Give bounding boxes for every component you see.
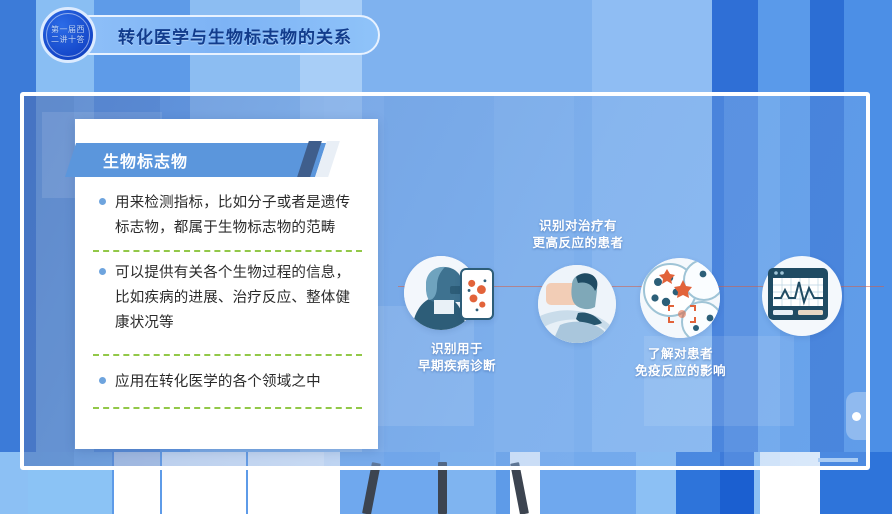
caption-line-2: 免疫反应的影响 <box>628 363 733 380</box>
next-slide-button[interactable] <box>846 392 866 440</box>
list-item: 用来检测指标，比如分子或者是遗传标志物，都属于生物标志物的范畴 <box>91 191 364 241</box>
caption-line-2: 更高反应的患者 <box>498 235 658 252</box>
caption-immune-response: 了解对患者 免疫反应的影响 <box>628 346 733 380</box>
cell-cluster-icon <box>640 258 720 338</box>
illustration-group: 识别用于 早期疾病诊断 识别对治疗有 更高反应的患者 <box>390 96 884 514</box>
caption-line-1: 了解对患者 <box>628 346 733 363</box>
biomarker-card: 生物标志物 用来检测指标，比如分子或者是遗传标志物，都属于生物标志物的范畴 可以… <box>75 119 378 449</box>
logo-badge-icon: 第一届西 二讲十答 <box>40 7 96 63</box>
bullet-dot-icon <box>99 198 106 205</box>
cells-on-tablet-icon <box>462 270 492 318</box>
slide-stage: 第一届西 二讲十答 转化医学与生物标志物的关系 <box>0 0 892 514</box>
logo-line-2: 二讲十答 <box>51 35 85 45</box>
caption-line-1: 识别用于 <box>392 341 522 358</box>
logo-inner: 第一届西 二讲十答 <box>46 13 90 57</box>
illustration-treatment-response <box>538 265 616 343</box>
illustration-immune-response <box>640 258 720 338</box>
bullet-text: 可以提供有关各个生物过程的信息，比如疾病的进展、治疗反应、整体健康状况等 <box>115 261 360 336</box>
card-banner-title: 生物标志物 <box>103 143 188 177</box>
caption-line-2: 早期疾病诊断 <box>392 358 522 375</box>
caption-line-1: 识别对治疗有 <box>498 218 658 235</box>
patient-in-bed-icon <box>538 265 616 343</box>
bullet-dot-icon <box>99 268 106 275</box>
divider <box>93 354 362 356</box>
page-title: 转化医学与生物标志物的关系 <box>118 23 352 48</box>
bullet-text: 应用在转化医学的各个领域之中 <box>115 370 321 395</box>
bullet-list: 用来检测指标，比如分子或者是遗传标志物，都属于生物标志物的范畴 可以提供有关各个… <box>91 191 364 418</box>
header: 第一届西 二讲十答 转化医学与生物标志物的关系 <box>40 14 380 56</box>
chevron-right-icon <box>852 412 861 421</box>
logo-line-1: 第一届西 <box>51 25 85 35</box>
illustration-monitor-chart <box>768 268 828 320</box>
caption-treatment-response: 识别对治疗有 更高反应的患者 <box>498 218 658 252</box>
card-banner: 生物标志物 <box>65 143 315 177</box>
divider <box>93 407 362 409</box>
tablet-screen <box>460 268 494 320</box>
divider <box>93 250 362 252</box>
bullet-text: 用来检测指标，比如分子或者是遗传标志物，都属于生物标志物的范畴 <box>115 191 360 241</box>
list-item: 应用在转化医学的各个领域之中 <box>91 370 364 395</box>
page-title-pill: 转化医学与生物标志物的关系 <box>70 15 380 55</box>
caption-early-diagnosis: 识别用于 早期疾病诊断 <box>392 341 522 375</box>
bullet-dot-icon <box>99 377 106 384</box>
list-item: 可以提供有关各个生物过程的信息，比如疾病的进展、治疗反应、整体健康状况等 <box>91 261 364 336</box>
ecg-monitor-icon <box>768 268 828 320</box>
